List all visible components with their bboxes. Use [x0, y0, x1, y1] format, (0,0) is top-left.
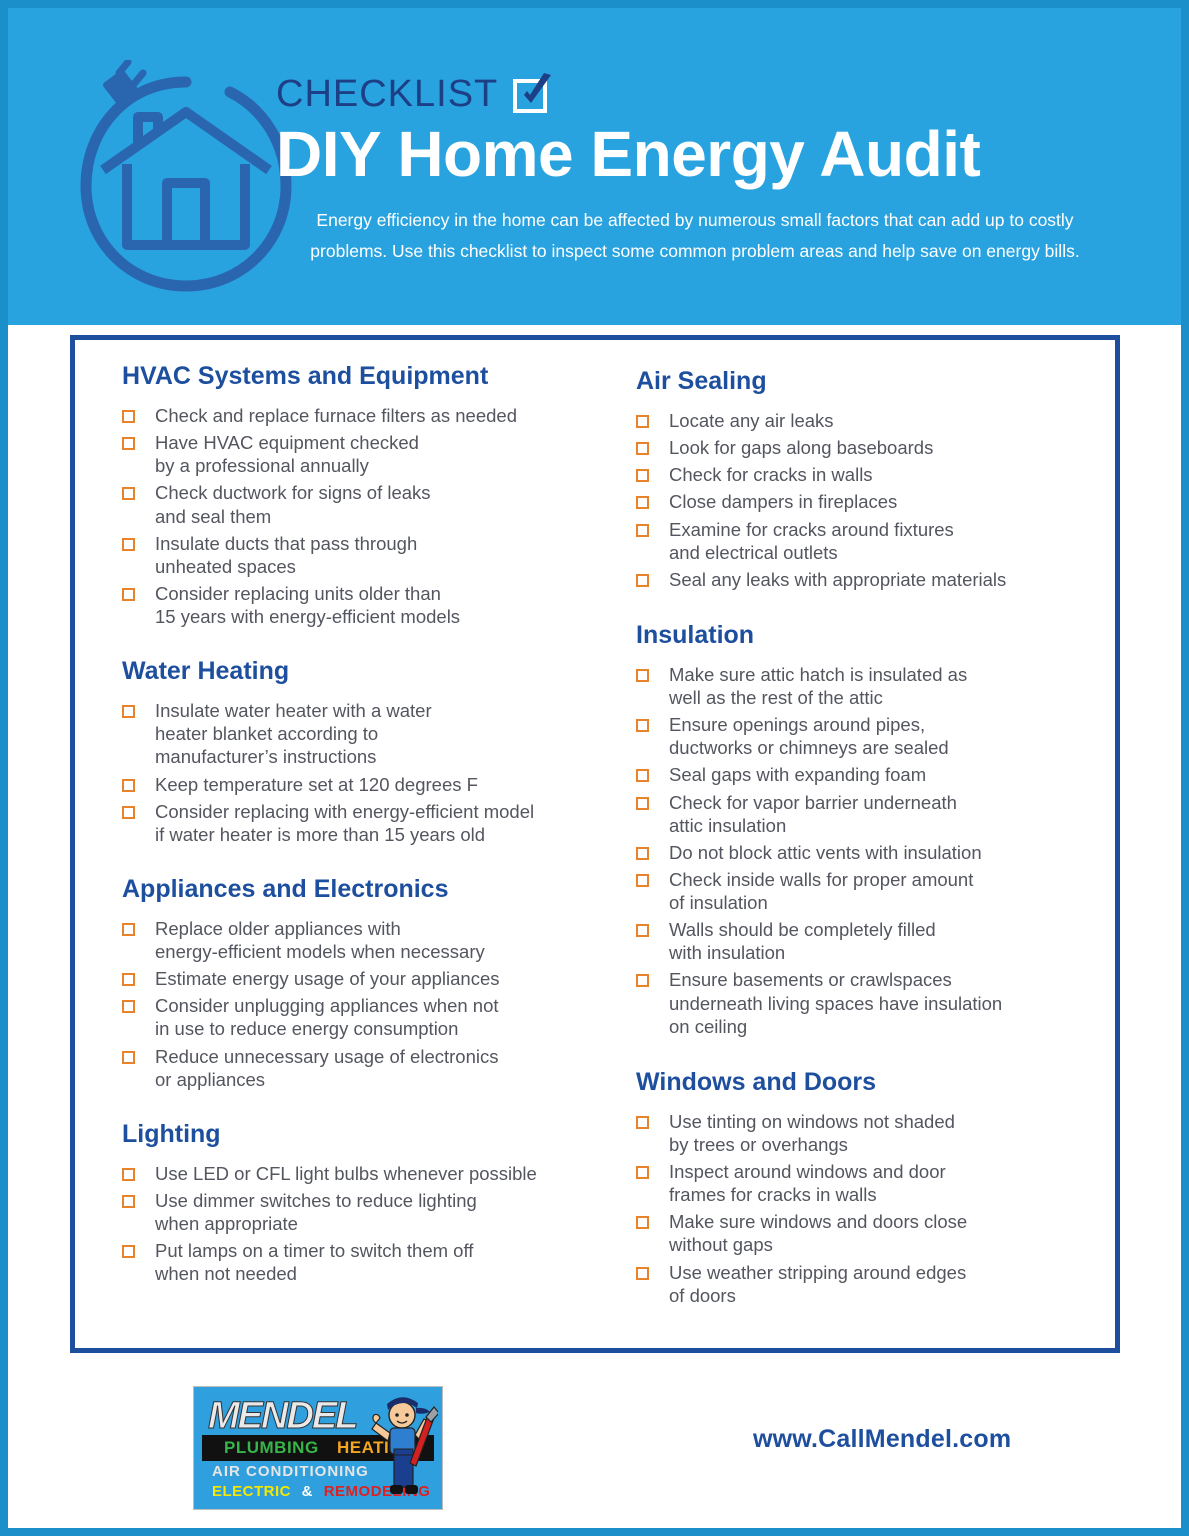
checklist-item[interactable]: Ensure openings around pipes, ductworks … — [636, 713, 1086, 759]
checklist-item-label: Check for vapor barrier underneath attic… — [669, 791, 957, 837]
website-url[interactable]: www.CallMendel.com — [753, 1425, 1011, 1454]
section-title: Appliances and Electronics — [122, 874, 592, 904]
checkbox-icon[interactable] — [122, 1051, 135, 1064]
checklist-item[interactable]: Check inside walls for proper amount of … — [636, 868, 1086, 914]
checkbox-icon[interactable] — [636, 1216, 649, 1229]
checklist-item[interactable]: Make sure windows and doors close withou… — [636, 1210, 1086, 1256]
checklist-item[interactable]: Check ductwork for signs of leaks and se… — [122, 481, 592, 527]
checklist-item-label: Ensure openings around pipes, ductworks … — [669, 713, 949, 759]
checklist-item[interactable]: Walls should be completely filled with i… — [636, 918, 1086, 964]
checklist-item-label: Inspect around windows and door frames f… — [669, 1160, 946, 1206]
checklist-item[interactable]: Examine for cracks around fixtures and e… — [636, 518, 1086, 564]
mendel-ac-label: AIR CONDITIONING — [212, 1463, 369, 1480]
header-subtitle: Energy efficiency in the home can be aff… — [276, 205, 1114, 266]
checkbox-icon[interactable] — [122, 1168, 135, 1181]
checklist-item-label: Look for gaps along baseboards — [669, 436, 933, 459]
checklist-item-label: Replace older appliances with energy-eff… — [155, 917, 485, 963]
checklist-item[interactable]: Locate any air leaks — [636, 409, 1086, 432]
checklist-item-label: Insulate water heater with a water heate… — [155, 699, 432, 768]
checklist-item[interactable]: Use dimmer switches to reduce lighting w… — [122, 1189, 592, 1235]
checklist-item[interactable]: Inspect around windows and door frames f… — [636, 1160, 1086, 1206]
checklist-item-label: Close dampers in fireplaces — [669, 490, 897, 513]
section-title: Insulation — [636, 620, 1086, 650]
checklist-item-label: Insulate ducts that pass through unheate… — [155, 532, 417, 578]
header-text-block: CHECKLIST DIY Home Energy Audit Energy e… — [276, 68, 1136, 267]
checklist-item-label: Check for cracks in walls — [669, 463, 873, 486]
checklist-item[interactable]: Replace older appliances with energy-eff… — [122, 917, 592, 963]
checklist-item[interactable]: Consider replacing units older than 15 y… — [122, 582, 592, 628]
right-column: Air Sealing Locate any air leaks Look fo… — [636, 335, 1086, 1311]
section-appliances: Appliances and Electronics Replace older… — [122, 874, 592, 1091]
section-items: Use tinting on windows not shaded by tre… — [636, 1110, 1086, 1307]
checkbox-icon[interactable] — [122, 1195, 135, 1208]
checklist-item[interactable]: Seal gaps with expanding foam — [636, 763, 1086, 786]
checklist-item-label: Use tinting on windows not shaded by tre… — [669, 1110, 955, 1156]
checklist-item[interactable]: Have HVAC equipment checked by a profess… — [122, 431, 592, 477]
checklist-item[interactable]: Check for cracks in walls — [636, 463, 1086, 486]
checkbox-icon[interactable] — [636, 847, 649, 860]
checkbox-icon[interactable] — [122, 806, 135, 819]
kicker-label: CHECKLIST — [276, 75, 498, 113]
checklist-columns: HVAC Systems and Equipment Check and rep… — [70, 335, 1120, 1353]
checklist-item-label: Examine for cracks around fixtures and e… — [669, 518, 954, 564]
checkbox-icon[interactable] — [636, 574, 649, 587]
page-header: CHECKLIST DIY Home Energy Audit Energy e… — [8, 8, 1181, 325]
section-items: Replace older appliances with energy-eff… — [122, 917, 592, 1091]
section-items: Insulate water heater with a water heate… — [122, 699, 592, 846]
checkbox-icon[interactable] — [636, 974, 649, 987]
page-footer: MENDEL PLUMBING HEATING AIR CONDITIONING… — [8, 1363, 1181, 1528]
checklist-item-label: Locate any air leaks — [669, 409, 834, 432]
checklist-item[interactable]: Insulate water heater with a water heate… — [122, 699, 592, 768]
section-items: Make sure attic hatch is insulated as we… — [636, 663, 1086, 1038]
section-air-sealing: Air Sealing Locate any air leaks Look fo… — [636, 366, 1086, 591]
plumber-mascot-icon — [368, 1393, 438, 1505]
checkbox-icon[interactable] — [122, 437, 135, 450]
checklist-item-label: Use weather stripping around edges of do… — [669, 1261, 966, 1307]
section-water-heating: Water Heating Insulate water heater with… — [122, 656, 592, 846]
checklist-item-label: Check inside walls for proper amount of … — [669, 868, 973, 914]
checklist-item[interactable]: Consider replacing with energy-efficient… — [122, 800, 592, 846]
checkbox-icon[interactable] — [122, 973, 135, 986]
checklist-item[interactable]: Use tinting on windows not shaded by tre… — [636, 1110, 1086, 1156]
checklist-item[interactable]: Reduce unnecessary usage of electronics … — [122, 1045, 592, 1091]
section-title: Water Heating — [122, 656, 592, 686]
checkbox-icon[interactable] — [636, 1166, 649, 1179]
checklist-item-label: Consider replacing units older than 15 y… — [155, 582, 460, 628]
checkbox-icon[interactable] — [122, 410, 135, 423]
checklist-item-label: Seal gaps with expanding foam — [669, 763, 926, 786]
section-windows-doors: Windows and Doors Use tinting on windows… — [636, 1067, 1086, 1307]
checkbox-icon[interactable] — [636, 442, 649, 455]
checklist-item-label: Use dimmer switches to reduce lighting w… — [155, 1189, 477, 1235]
page-title: DIY Home Energy Audit — [276, 122, 1136, 187]
mendel-electric-label: ELECTRIC — [212, 1483, 291, 1500]
checklist-item[interactable]: Use weather stripping around edges of do… — [636, 1261, 1086, 1307]
checklist-item[interactable]: Close dampers in fireplaces — [636, 490, 1086, 513]
house-with-power-cord-icon — [70, 60, 302, 305]
checkbox-icon[interactable] — [636, 415, 649, 428]
section-title: HVAC Systems and Equipment — [122, 361, 592, 391]
checkbox-icon[interactable] — [636, 797, 649, 810]
kicker-row: CHECKLIST — [276, 68, 1136, 120]
checkbox-icon[interactable] — [636, 1116, 649, 1129]
checklist-item-label: Seal any leaks with appropriate material… — [669, 568, 1006, 591]
checklist-item[interactable]: Put lamps on a timer to switch them off … — [122, 1239, 592, 1285]
checklist-item[interactable]: Check for vapor barrier underneath attic… — [636, 791, 1086, 837]
section-insulation: Insulation Make sure attic hatch is insu… — [636, 620, 1086, 1038]
checklist-item[interactable]: Ensure basements or crawlspaces undernea… — [636, 968, 1086, 1037]
checkbox-icon[interactable] — [122, 923, 135, 936]
checklist-item-label: Check and replace furnace filters as nee… — [155, 404, 517, 427]
checklist-item[interactable]: Estimate energy usage of your appliances — [122, 967, 592, 990]
checklist-item[interactable]: Keep temperature set at 120 degrees F — [122, 773, 592, 796]
checklist-item[interactable]: Use LED or CFL light bulbs whenever poss… — [122, 1162, 592, 1185]
checklist-item-label: Do not block attic vents with insulation — [669, 841, 982, 864]
checkbox-icon[interactable] — [636, 874, 649, 887]
checklist-item[interactable]: Consider unplugging appliances when not … — [122, 994, 592, 1040]
checklist-item-label: Keep temperature set at 120 degrees F — [155, 773, 478, 796]
section-items: Locate any air leaks Look for gaps along… — [636, 409, 1086, 591]
checklist-item[interactable]: Do not block attic vents with insulation — [636, 841, 1086, 864]
checklist-item[interactable]: Seal any leaks with appropriate material… — [636, 568, 1086, 591]
checkbox-icon[interactable] — [122, 1000, 135, 1013]
checklist-item-label: Walls should be completely filled with i… — [669, 918, 936, 964]
left-column: HVAC Systems and Equipment Check and rep… — [122, 335, 592, 1289]
section-items: Check and replace furnace filters as nee… — [122, 404, 592, 628]
checkbox-icon[interactable] — [636, 524, 649, 537]
checklist-item-label: Consider replacing with energy-efficient… — [155, 800, 534, 846]
mendel-plumbing-label: PLUMBING — [224, 1438, 319, 1458]
checkbox-icon[interactable] — [636, 924, 649, 937]
mendel-ampersand: & — [302, 1483, 313, 1500]
checkbox-icon[interactable] — [636, 496, 649, 509]
section-title: Windows and Doors — [636, 1067, 1086, 1097]
checkbox-icon[interactable] — [122, 1245, 135, 1258]
section-title: Lighting — [122, 1119, 592, 1149]
checklist-item-label: Reduce unnecessary usage of electronics … — [155, 1045, 498, 1091]
section-title: Air Sealing — [636, 366, 1086, 396]
section-lighting: Lighting Use LED or CFL light bulbs when… — [122, 1119, 592, 1286]
checklist-item-label: Make sure windows and doors close withou… — [669, 1210, 967, 1256]
section-hvac: HVAC Systems and Equipment Check and rep… — [122, 361, 592, 628]
checkbox-icon[interactable] — [122, 538, 135, 551]
checklist-item-label: Consider unplugging appliances when not … — [155, 994, 499, 1040]
checkbox-icon[interactable] — [636, 769, 649, 782]
checklist-item-label: Ensure basements or crawlspaces undernea… — [669, 968, 1002, 1037]
checklist-item-label: Check ductwork for signs of leaks and se… — [155, 481, 431, 527]
mendel-logo[interactable]: MENDEL PLUMBING HEATING AIR CONDITIONING… — [193, 1386, 443, 1510]
checklist-page: CHECKLIST DIY Home Energy Audit Energy e… — [8, 8, 1181, 1528]
checklist-item-label: Put lamps on a timer to switch them off … — [155, 1239, 473, 1285]
checklist-item-label: Estimate energy usage of your appliances — [155, 967, 500, 990]
mendel-wordmark: MENDEL — [208, 1395, 388, 1437]
checkbox-icon[interactable] — [636, 669, 649, 682]
checklist-item[interactable]: Make sure attic hatch is insulated as we… — [636, 663, 1086, 709]
checkbox-icon[interactable] — [636, 1267, 649, 1280]
checkbox-checked-icon — [512, 73, 554, 115]
checkbox-icon[interactable] — [122, 588, 135, 601]
checkbox-icon[interactable] — [636, 719, 649, 732]
checklist-item[interactable]: Check and replace furnace filters as nee… — [122, 404, 592, 427]
checkbox-icon[interactable] — [122, 779, 135, 792]
checklist-item[interactable]: Insulate ducts that pass through unheate… — [122, 532, 592, 578]
section-items: Use LED or CFL light bulbs whenever poss… — [122, 1162, 592, 1286]
checkbox-icon[interactable] — [122, 487, 135, 500]
checkbox-icon[interactable] — [122, 705, 135, 718]
checklist-item[interactable]: Look for gaps along baseboards — [636, 436, 1086, 459]
checklist-item-label: Use LED or CFL light bulbs whenever poss… — [155, 1162, 537, 1185]
checkbox-icon[interactable] — [636, 469, 649, 482]
checklist-item-label: Have HVAC equipment checked by a profess… — [155, 431, 419, 477]
checklist-item-label: Make sure attic hatch is insulated as we… — [669, 663, 967, 709]
